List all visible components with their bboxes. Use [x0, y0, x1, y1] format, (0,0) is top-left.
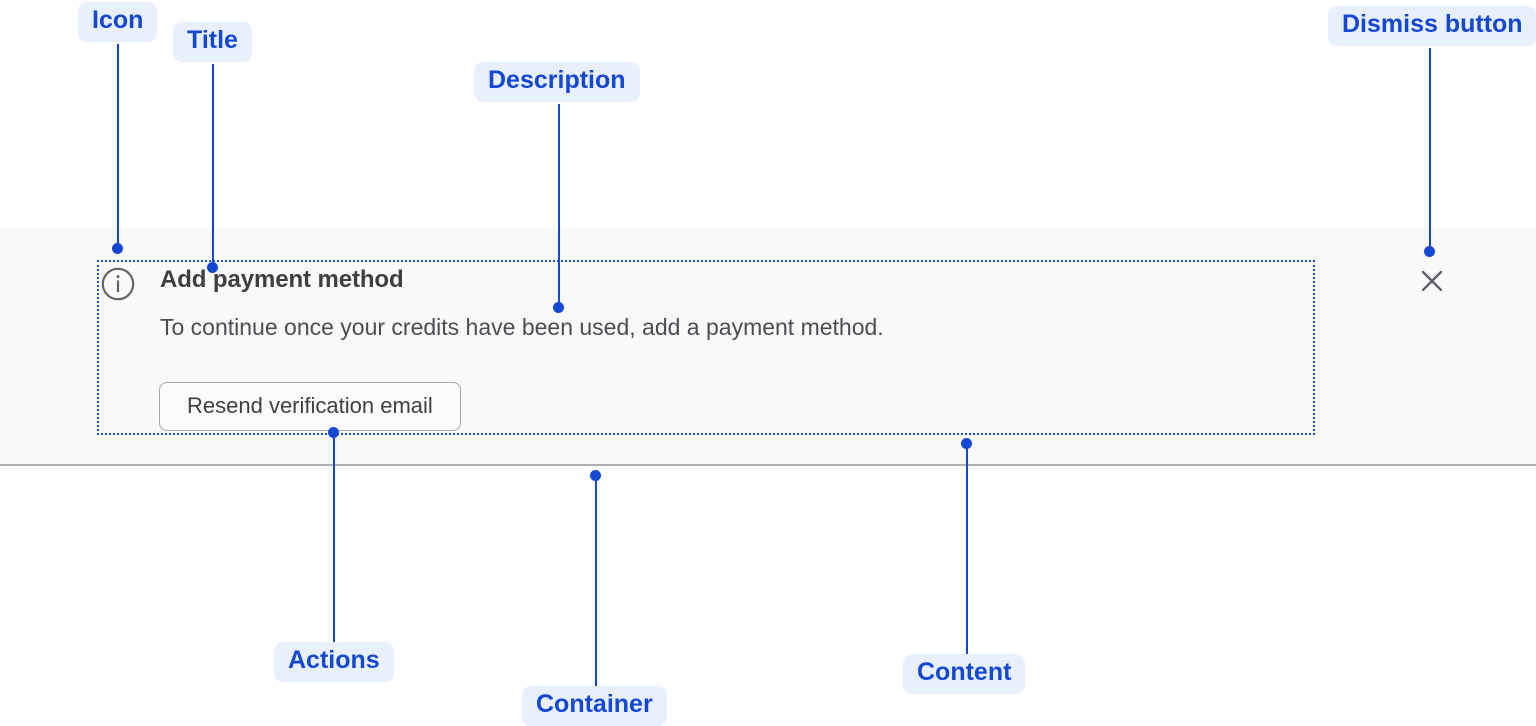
annotation-label-actions: Actions: [274, 642, 394, 682]
annotation-label-container: Container: [522, 686, 667, 726]
banner-actions: Resend verification email: [159, 382, 461, 431]
notification-banner: Add payment method To continue once your…: [0, 228, 1536, 466]
annotation-label-icon: Icon: [78, 2, 157, 42]
annotation-leader-content: [966, 448, 968, 654]
dismiss-button[interactable]: [1412, 261, 1452, 301]
banner-description: To continue once your credits have been …: [160, 314, 884, 341]
annotation-label-content: Content: [903, 654, 1025, 694]
annotation-label-title: Title: [173, 22, 252, 62]
annotation-leader-container: [595, 480, 597, 686]
banner-title: Add payment method: [160, 266, 404, 294]
annotation-anchor-container: [590, 470, 601, 481]
annotation-leader-icon: [117, 44, 119, 249]
resend-verification-email-button[interactable]: Resend verification email: [159, 382, 461, 431]
annotation-leader-dismiss-button: [1429, 48, 1431, 253]
info-circle-icon: [100, 266, 136, 302]
close-x-icon: [1412, 261, 1452, 301]
annotation-label-description: Description: [474, 62, 640, 102]
annotation-label-dismiss-button: Dismiss button: [1328, 6, 1536, 46]
banner-content: Add payment method To continue once your…: [97, 260, 1315, 435]
